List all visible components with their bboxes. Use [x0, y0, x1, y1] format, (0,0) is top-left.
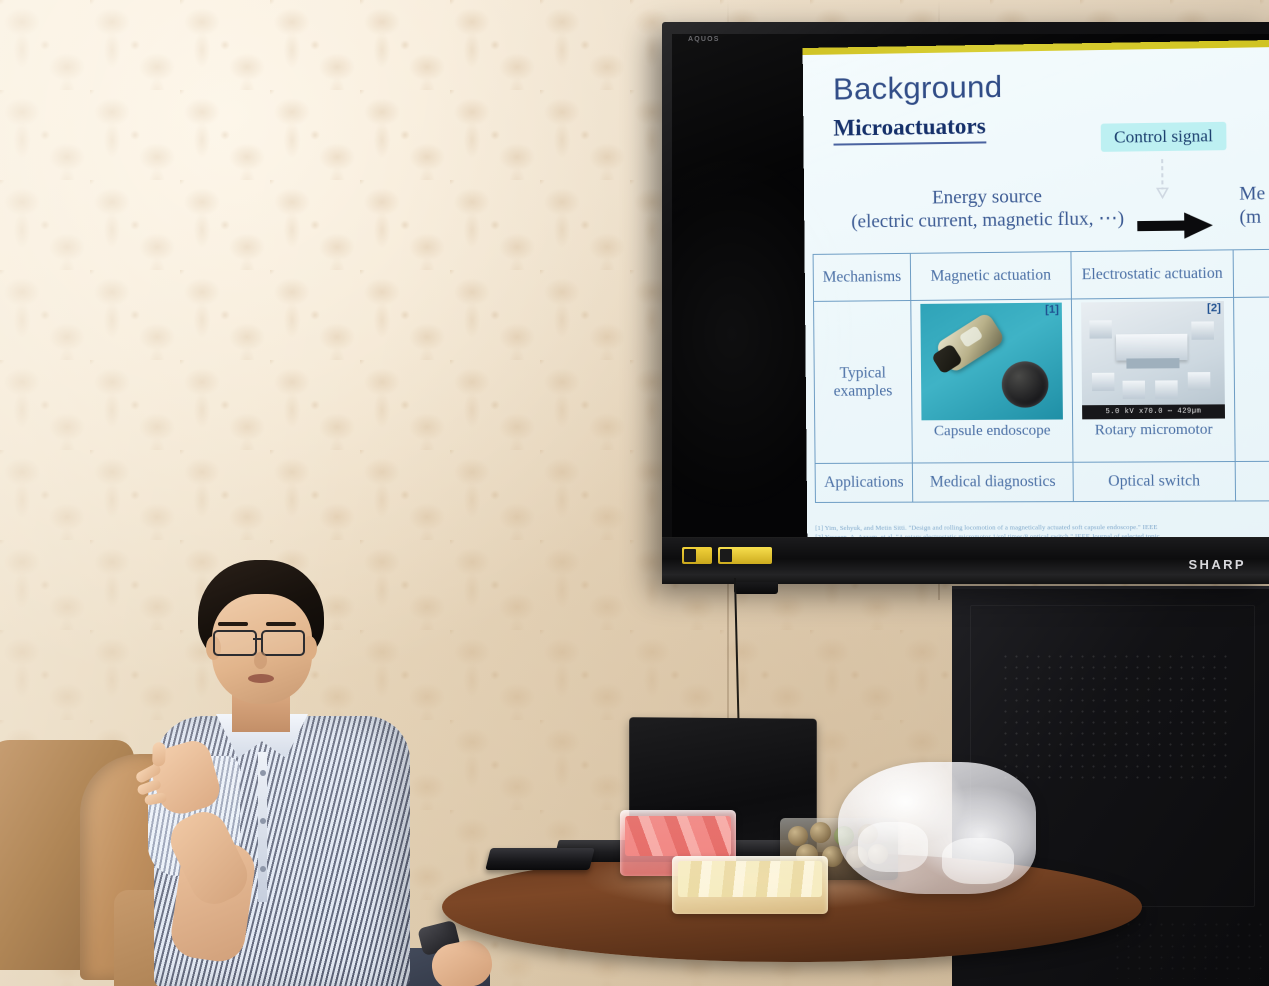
shirt-button [260, 818, 266, 824]
seated-person [120, 556, 480, 986]
energy-source-text: Energy source (electric current, magneti… [836, 184, 1139, 234]
output-line2: (m [1239, 204, 1269, 229]
energy-source-line2: (electric current, magnetic flux, ⋯) [836, 207, 1139, 234]
tv-bottom-bezel: SHARP [662, 537, 1269, 584]
reference-marker-1: [1] [1045, 304, 1059, 317]
wall-mounted-television: Background Microactuators Control signal… [662, 22, 1269, 584]
cell-magnetic-actuation: Magnetic actuation [910, 252, 1071, 301]
control-signal-label: Control signal [1101, 122, 1227, 152]
micromotor-hub [1116, 334, 1188, 361]
micromotor-tooth [1188, 372, 1211, 390]
tv-screen: Background Microactuators Control signal… [672, 34, 1269, 538]
micromotor-tooth [1089, 320, 1112, 338]
eyeglasses-bridge [253, 638, 261, 640]
micromotor-tooth [1092, 373, 1115, 391]
dashed-down-arrow-icon [1155, 159, 1170, 200]
sem-scale-bar: 5.0 kV x70.0 ⋯ 429µm [1082, 404, 1225, 419]
shirt-button [260, 770, 266, 776]
person-nose [254, 652, 267, 669]
rating-label-sticker [718, 547, 772, 564]
smartphone [485, 848, 594, 870]
micromotor-rotor [1126, 358, 1179, 369]
bag-fold [858, 822, 928, 872]
actuator-comparison-table: Mechanisms Magnetic actuation Electrosta… [813, 248, 1269, 503]
micromotor-tooth [1191, 321, 1214, 339]
shirt-button [260, 866, 266, 872]
plastic-shopping-bag [838, 762, 1036, 894]
cell-medical-diagnostics: Medical diagnostics [912, 462, 1073, 502]
capsule-endoscope-photo: [1] [920, 303, 1063, 421]
row-header-applications: Applications [815, 463, 913, 502]
cell-third-example [1234, 296, 1269, 461]
coin-for-scale [1002, 361, 1049, 408]
tv-mount-foot [734, 582, 778, 594]
sharp-logo: SHARP [1188, 557, 1246, 572]
person-eyebrow [218, 622, 248, 626]
presentation-slide: Background Microactuators Control signal… [803, 40, 1269, 538]
output-line1: Me [1239, 181, 1269, 206]
cell-third-application [1235, 461, 1269, 501]
cell-capsule-endoscope: [1] Capsule endoscope [911, 299, 1073, 463]
table-row: Applications Medical diagnostics Optical… [815, 461, 1269, 503]
cell-electrostatic-actuation: Electrostatic actuation [1071, 250, 1234, 299]
row-header-mechanisms: Mechanisms [813, 253, 911, 301]
cabinet-perforation-grid [1000, 651, 1232, 781]
lychee-fruit [810, 822, 831, 843]
person-mouth [248, 674, 274, 683]
lychee-fruit [788, 826, 808, 846]
table-row: Mechanisms Magnetic actuation Electrosta… [813, 248, 1269, 301]
output-motion-text: Me (m [1239, 181, 1269, 230]
slide-subtitle: Microactuators [833, 113, 986, 145]
cell-rotary-micromotor: 5.0 kV x70.0 ⋯ 429µm [2] Rotary micromot… [1071, 297, 1235, 462]
slide-references: [1] Yim, Sehyuk, and Metin Sitti. "Desig… [815, 522, 1269, 538]
cell-third-mechanism [1233, 248, 1269, 297]
eyeglasses-lens [261, 630, 305, 656]
aquos-logo: AQUOS [688, 36, 720, 43]
eyeglasses-lens [213, 630, 257, 656]
energy-label-sticker [682, 547, 712, 564]
row-header-typical-examples: Typical examples [814, 300, 913, 463]
micromotor-tooth [1155, 380, 1178, 398]
melon-container [672, 856, 828, 914]
cell-optical-switch: Optical switch [1073, 462, 1236, 502]
reference-marker-2: [2] [1207, 302, 1221, 315]
hand-finger [144, 792, 167, 806]
capsule-endoscope-caption: Capsule endoscope [934, 423, 1051, 441]
bag-fold [942, 838, 1014, 884]
slide-title: Background [833, 69, 1003, 108]
rotary-micromotor-photo: 5.0 kV x70.0 ⋯ 429µm [2] [1081, 301, 1225, 419]
black-right-arrow-icon [1137, 210, 1215, 241]
person-eyebrow [266, 622, 296, 626]
micromotor-tooth [1123, 381, 1146, 399]
slide-accent-bar [803, 40, 1269, 55]
rotary-micromotor-caption: Rotary micromotor [1095, 422, 1213, 440]
hand-thumb [152, 742, 166, 766]
room-photo-scene: Background Microactuators Control signal… [0, 0, 1269, 986]
table-row: Typical examples [1] Capsule [814, 296, 1269, 463]
sem-scale-bar-text: 5.0 kV x70.0 ⋯ 429µm [1082, 404, 1225, 419]
